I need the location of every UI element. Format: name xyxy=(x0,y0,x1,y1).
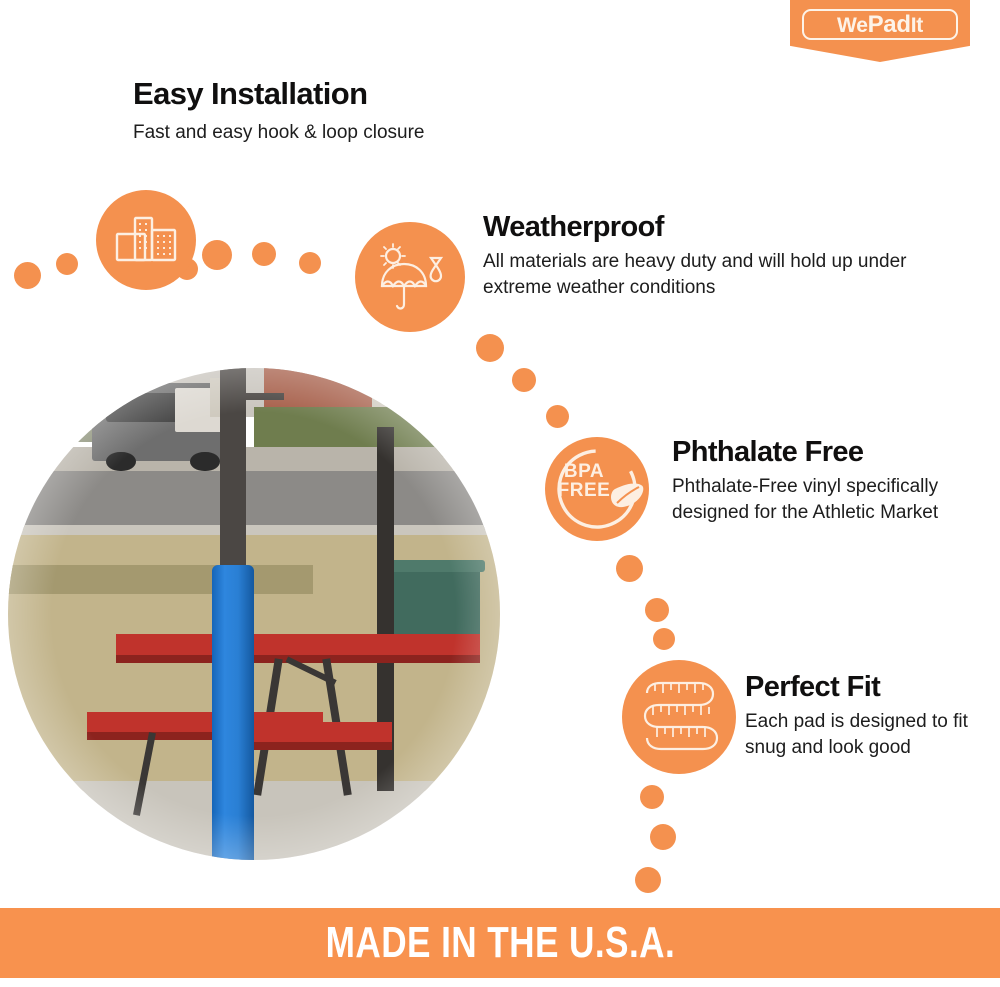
trail-dot xyxy=(252,242,276,266)
logo-text-pad: Pad xyxy=(868,11,911,38)
logo-outline-box: WePadIt xyxy=(802,9,958,40)
feature-description: Fast and easy hook & loop closure xyxy=(133,120,563,145)
feature-description: Phthalate-Free vinyl specifically design… xyxy=(672,474,972,524)
trail-dot xyxy=(645,598,669,622)
bpa-free-leaf-icon: BPA FREE xyxy=(545,437,649,541)
feature-description: Each pad is designed to fit snug and loo… xyxy=(745,709,985,759)
icon-perfect-fit-circle[interactable] xyxy=(622,660,736,774)
icon-building-circle[interactable] xyxy=(96,190,196,290)
building-icon xyxy=(115,214,177,266)
logo-text-it: It xyxy=(911,14,923,37)
trail-dot xyxy=(653,628,675,650)
trail-dot xyxy=(476,334,504,362)
feature-block-weatherproof: Weatherproof All materials are heavy dut… xyxy=(483,212,913,300)
feature-title: Easy Installation xyxy=(133,78,563,111)
made-in-usa-text: MADE IN THE U.S.A. xyxy=(325,921,674,965)
trail-dot xyxy=(635,867,661,893)
made-in-usa-banner: MADE IN THE U.S.A. xyxy=(0,908,1000,978)
measuring-tape-icon xyxy=(637,677,721,757)
infographic-root: WePadIt xyxy=(0,0,1000,987)
logo-text-we: We xyxy=(837,14,868,37)
product-photo xyxy=(8,368,500,860)
feature-block-perfect-fit: Perfect Fit Each pad is designed to fit … xyxy=(745,672,985,760)
trail-dot xyxy=(14,262,41,289)
feature-title: Weatherproof xyxy=(483,212,913,242)
trail-dot xyxy=(640,785,664,809)
product-photo-scene xyxy=(8,368,500,860)
umbrella-sun-rain-icon xyxy=(373,242,447,312)
trail-dot xyxy=(650,824,676,850)
icon-bpa-free-circle[interactable]: BPA FREE xyxy=(545,437,649,541)
brand-logo[interactable]: WePadIt xyxy=(790,0,970,62)
icon-weatherproof-circle[interactable] xyxy=(355,222,465,332)
feature-description: All materials are heavy duty and will ho… xyxy=(483,249,913,299)
bpa-icon-text-line2: FREE xyxy=(558,480,611,501)
trail-dot xyxy=(202,240,232,270)
trail-dot xyxy=(616,555,643,582)
feature-block-phthalate-free: Phthalate Free Phthalate-Free vinyl spec… xyxy=(672,437,972,525)
trail-dot xyxy=(546,405,569,428)
logo-text: WePadIt xyxy=(837,13,923,37)
feature-title: Phthalate Free xyxy=(672,437,972,467)
feature-title: Perfect Fit xyxy=(745,672,985,702)
feature-block-easy-installation: Easy Installation Fast and easy hook & l… xyxy=(133,78,563,145)
trail-dot xyxy=(299,252,321,274)
trail-dot xyxy=(56,253,78,275)
trail-dot xyxy=(512,368,536,392)
